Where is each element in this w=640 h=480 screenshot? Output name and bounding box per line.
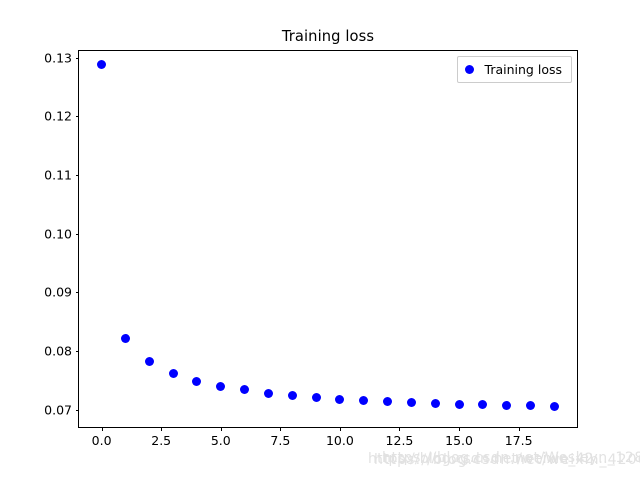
y-axis-tick-mark	[76, 410, 80, 411]
watermark-line-b: https://blog.csdn.net/weixin_4206	[374, 452, 640, 468]
data-point	[288, 391, 297, 400]
data-point	[550, 402, 559, 411]
data-point	[383, 397, 392, 406]
x-axis-tick-mark	[459, 427, 460, 431]
y-axis-tick-mark	[76, 234, 80, 235]
x-axis-tick-mark	[161, 427, 162, 431]
data-point	[121, 334, 130, 343]
y-axis-tick-mark	[76, 175, 80, 176]
legend-item-label: Training loss	[485, 62, 562, 77]
data-point	[478, 400, 487, 409]
y-axis-tick-mark	[76, 116, 80, 117]
watermark: https://blog.csdn.net/weixin_42... https…	[368, 450, 636, 470]
plot-axes: Training loss 0.070.080.090.100.110.120.…	[78, 50, 578, 428]
watermark-line-c: https://blog.csdn.net/Wesleyn_12808	[382, 450, 640, 466]
data-point	[407, 398, 416, 407]
data-point	[502, 401, 511, 410]
data-point	[145, 357, 154, 366]
data-point	[264, 389, 273, 398]
legend-box[interactable]: Training loss	[457, 56, 572, 83]
data-point	[169, 369, 178, 378]
x-axis-tick-mark	[221, 427, 222, 431]
y-axis-tick-label: 0.13	[44, 50, 72, 65]
x-axis-tick-label: 12.5	[386, 433, 414, 448]
x-axis-tick-label: 10.0	[326, 433, 354, 448]
x-axis-tick-label: 17.5	[505, 433, 533, 448]
x-axis-tick-label: 2.5	[151, 433, 171, 448]
y-axis-tick-label: 0.07	[44, 402, 72, 417]
x-axis-tick-label: 7.5	[270, 433, 290, 448]
x-axis-tick-label: 5.0	[211, 433, 231, 448]
y-axis-tick-label: 0.12	[44, 109, 72, 124]
x-axis-tick-mark	[102, 427, 103, 431]
x-axis-tick-mark	[399, 427, 400, 431]
data-point	[97, 60, 106, 69]
y-axis-tick-label: 0.10	[44, 226, 72, 241]
data-point	[455, 400, 464, 409]
watermark-line-a: https://blog.csdn.net/weixin_42...	[368, 451, 608, 467]
y-axis-tick-mark	[76, 351, 80, 352]
x-axis-tick-mark	[280, 427, 281, 431]
data-point	[312, 393, 321, 402]
legend-marker-icon	[465, 65, 474, 74]
page-title: Training loss	[78, 28, 578, 45]
data-point	[240, 385, 249, 394]
data-point	[192, 377, 201, 386]
data-point	[359, 396, 368, 405]
x-axis-tick-mark	[519, 427, 520, 431]
x-axis-tick-mark	[340, 427, 341, 431]
x-axis-tick-label: 0.0	[92, 433, 112, 448]
data-point	[335, 395, 344, 404]
plot-area	[79, 51, 577, 427]
figure-canvas: Training loss Training loss 0.070.080.09…	[0, 0, 640, 480]
x-axis-tick-label: 15.0	[445, 433, 473, 448]
y-axis-tick-mark	[76, 292, 80, 293]
y-axis-tick-label: 0.09	[44, 285, 72, 300]
data-point	[216, 382, 225, 391]
y-axis-tick-mark	[76, 58, 80, 59]
data-point	[526, 401, 535, 410]
y-axis-tick-label: 0.08	[44, 343, 72, 358]
data-point	[431, 399, 440, 408]
y-axis-tick-label: 0.11	[44, 167, 72, 182]
